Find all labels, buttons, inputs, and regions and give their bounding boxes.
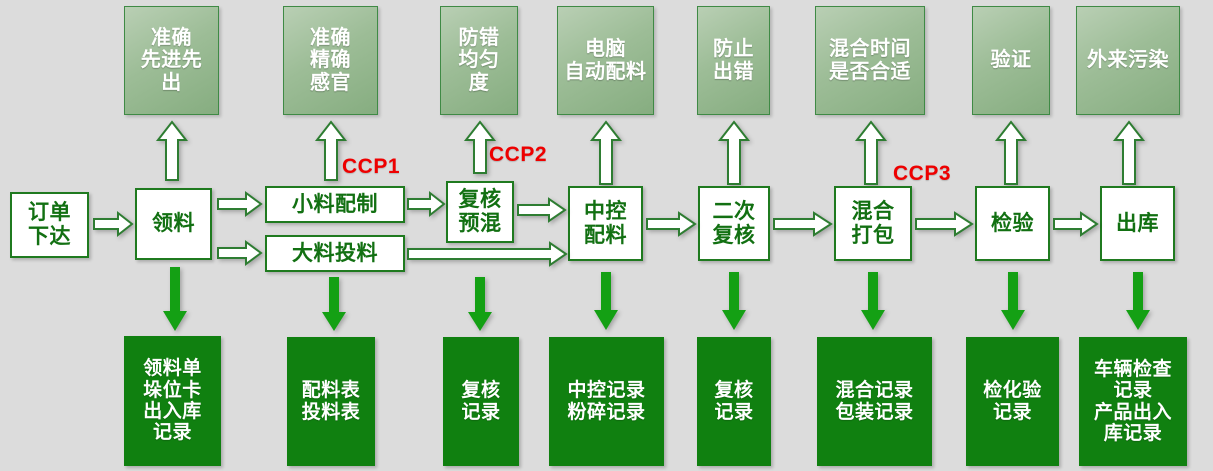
flow-arrow-mixpack-to-inspection	[914, 210, 974, 238]
process-box-recheck-premix[interactable]: 复核 预混	[446, 181, 514, 243]
top-box-external-contamination: 外来污染	[1076, 6, 1180, 115]
record-box-batching-forms: 配料表 投料表	[287, 337, 375, 466]
ccp-label-1: CCP1	[342, 155, 400, 179]
process-box-mix-packaging[interactable]: 混合 打包	[834, 186, 912, 261]
up-arrow-to-external-contamination	[1113, 120, 1145, 186]
up-arrow-to-accurate-fifo	[156, 120, 188, 182]
flow-arrow-premix-to-central	[516, 196, 567, 224]
record-box-vehicle-records: 车辆检查 记录 产品出入 库记录	[1079, 337, 1187, 466]
flow-arrow-major-to-central	[406, 240, 568, 268]
down-arrow-to-lab-records	[999, 272, 1027, 332]
record-box-lab-records: 检化验 记录	[966, 337, 1059, 466]
top-box-error-prevention: 防错 均匀 度	[440, 6, 518, 115]
up-arrow-to-verification	[995, 120, 1027, 186]
process-box-second-recheck[interactable]: 二次 复核	[698, 186, 770, 261]
top-box-mixing-time: 混合时间 是否合适	[815, 6, 925, 115]
record-box-recheck-records: 复核 记录	[443, 337, 519, 466]
process-box-major-feeding[interactable]: 大料投料	[265, 235, 405, 272]
down-arrow-to-central-records	[592, 272, 620, 332]
flow-arrow-recheck-to-mixpack	[772, 210, 833, 238]
up-arrow-to-mixing-time	[855, 120, 887, 186]
top-box-prevent-mistakes: 防止 出错	[697, 6, 770, 115]
up-arrow-to-computer-auto-dosing	[590, 120, 622, 186]
down-arrow-to-recheck-records	[466, 277, 494, 333]
process-box-outbound[interactable]: 出库	[1100, 186, 1175, 261]
record-box-central-records: 中控记录 粉碎记录	[549, 337, 664, 466]
top-box-accurate-fifo: 准确 先进先 出	[124, 6, 219, 115]
flowchart-canvas: 准确 先进先 出 准确 精确 感官 防错 均匀 度 电脑 自动配料 防止 出错 …	[0, 0, 1213, 471]
process-box-inspection[interactable]: 检验	[975, 186, 1050, 261]
process-box-order-release[interactable]: 订单 下达	[10, 192, 89, 258]
up-arrow-to-prevent-mistakes	[718, 120, 750, 186]
process-box-picking[interactable]: 领料	[135, 188, 212, 260]
record-box-mixing-records: 混合记录 包装记录	[817, 337, 932, 466]
flow-arrow-picking-to-major	[216, 239, 263, 267]
process-box-central-dosing[interactable]: 中控 配料	[568, 186, 643, 261]
ccp-label-2: CCP2	[489, 143, 547, 167]
flow-arrow-picking-to-minor	[216, 190, 263, 218]
record-box-second-recheck: 复核 记录	[697, 337, 771, 466]
top-box-computer-auto-dosing: 电脑 自动配料	[557, 6, 654, 115]
record-box-picking-slips: 领料单 垛位卡 出入库 记录	[124, 336, 221, 466]
flow-arrow-central-to-recheck	[645, 210, 697, 238]
down-arrow-to-batching-forms	[320, 277, 348, 333]
down-arrow-to-vehicle-records	[1124, 272, 1152, 332]
down-arrow-to-picking-records	[161, 267, 189, 333]
process-box-minor-batching[interactable]: 小料配制	[265, 186, 405, 223]
top-box-accurate-sensory: 准确 精确 感官	[283, 6, 378, 115]
top-box-verification: 验证	[972, 6, 1050, 115]
flow-arrow-order-to-picking	[92, 210, 134, 238]
down-arrow-to-mixing-records	[859, 272, 887, 332]
down-arrow-to-second-recheck-records	[720, 272, 748, 332]
flow-arrow-inspection-to-outbound	[1052, 210, 1099, 238]
ccp-label-3: CCP3	[893, 162, 951, 186]
flow-arrow-minor-to-premix	[406, 191, 446, 217]
